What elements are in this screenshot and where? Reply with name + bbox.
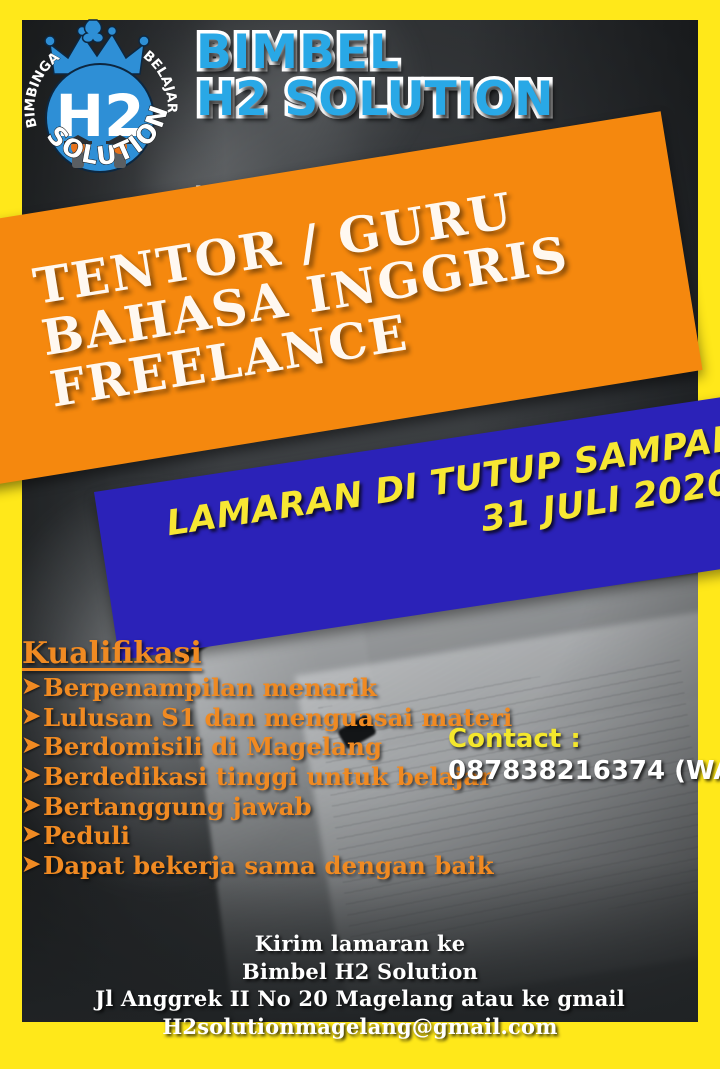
qualification-item-label: Berdedikasi tinggi untuk belajar <box>43 762 492 792</box>
qualification-item: ➤Berdedikasi tinggi untuk belajar <box>22 762 522 792</box>
qualification-item: ➤Lulusan S1 dan menguasai materi <box>22 703 522 733</box>
qualification-item-label: Berdomisili di Magelang <box>43 732 382 762</box>
hiring-poster: H2 BIMBINGAN <box>0 0 720 1069</box>
qualification-item: ➤Bertanggung jawab <box>22 792 522 822</box>
qualification-item-label: Berpenampilan menarik <box>43 673 377 703</box>
contact-phone-number[interactable]: 087838216374 (WA) <box>448 756 718 786</box>
footer-section: Kirim lamaran ke Bimbel H2 Solution Jl A… <box>0 930 720 1041</box>
bullet-arrow-icon: ➤ <box>22 792 43 820</box>
bullet-arrow-icon: ➤ <box>22 703 43 731</box>
brand-line-2: H2 SOLUTION <box>196 77 676 124</box>
bullet-arrow-icon: ➤ <box>22 762 43 790</box>
qualification-item-label: Peduli <box>43 821 130 851</box>
qualification-item: ➤Peduli <box>22 821 522 851</box>
footer-email[interactable]: H2solutionmagelang@gmail.com <box>0 1013 720 1041</box>
h2-solution-logo: H2 BIMBINGAN <box>20 18 180 180</box>
qualification-item: ➤Berdomisili di Magelang <box>22 732 522 762</box>
footer-line-2: Bimbel H2 Solution <box>0 958 720 986</box>
footer-line-3: Jl Anggrek II No 20 Magelang atau ke gma… <box>0 985 720 1013</box>
qualification-item: ➤Dapat bekerja sama dengan baik <box>22 851 522 881</box>
qualification-item-label: Lulusan S1 dan menguasai materi <box>43 703 512 733</box>
footer-line-1: Kirim lamaran ke <box>0 930 720 958</box>
contact-section: Contact : 087838216374 (WA) <box>448 724 718 786</box>
bullet-arrow-icon: ➤ <box>22 673 43 701</box>
qualification-item-label: Dapat bekerja sama dengan baik <box>43 851 494 881</box>
bullet-arrow-icon: ➤ <box>22 821 43 849</box>
brand-headline: BIMBEL H2 SOLUTION <box>196 30 676 123</box>
brand-line-1: BIMBEL <box>196 30 676 77</box>
qualifications-list: ➤Berpenampilan menarik➤Lulusan S1 dan me… <box>22 673 522 880</box>
qualification-item: ➤Berpenampilan menarik <box>22 673 522 703</box>
contact-label: Contact : <box>448 724 718 754</box>
qualifications-title: Kualifikasi <box>22 636 522 671</box>
bullet-arrow-icon: ➤ <box>22 732 43 760</box>
bullet-arrow-icon: ➤ <box>22 851 43 879</box>
qualification-item-label: Bertanggung jawab <box>43 792 312 822</box>
qualifications-section: Kualifikasi ➤Berpenampilan menarik➤Lulus… <box>22 636 522 880</box>
